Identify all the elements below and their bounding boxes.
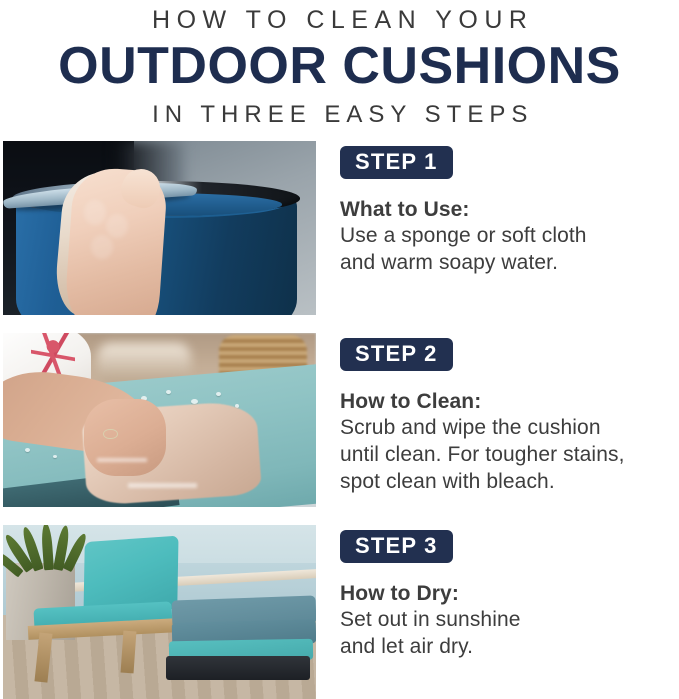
water-droplet [216, 392, 221, 396]
step-row: STEP 3 How to Dry: Set out in sunshine a… [0, 525, 679, 699]
header-line-top: HOW TO CLEAN YOUR [0, 6, 679, 34]
step-3-body: STEP 3 How to Dry: Set out in sunshine a… [340, 525, 679, 660]
hand [84, 399, 165, 476]
step-1-badge: STEP 1 [340, 146, 453, 179]
step-1-heading: What to Use: [340, 197, 679, 222]
page-header: HOW TO CLEAN YOUR OUTDOOR CUSHIONS IN TH… [0, 0, 679, 129]
step-2-badge: STEP 2 [340, 338, 453, 371]
step-2-photo [3, 333, 316, 507]
header-line-bottom: IN THREE EASY STEPS [0, 101, 679, 129]
step-row: STEP 1 What to Use: Use a sponge or soft… [0, 141, 679, 333]
knuckle-highlight [84, 200, 106, 224]
step-3-heading: How to Dry: [340, 581, 679, 606]
step-3-photo [3, 525, 316, 699]
step-3-badge: STEP 3 [340, 530, 453, 563]
water-droplet [25, 448, 30, 452]
steps-list: STEP 1 What to Use: Use a sponge or soft… [0, 141, 679, 699]
step-2-heading: How to Clean: [340, 389, 679, 414]
ring [103, 429, 118, 440]
step-3-line: and let air dry. [340, 633, 679, 660]
knuckle-highlight [91, 235, 113, 259]
step-2-line: spot clean with bleach. [340, 468, 679, 495]
step-1-line: Use a sponge or soft cloth [340, 222, 679, 249]
step-row: STEP 2 How to Clean: Scrub and wipe the … [0, 333, 679, 525]
page-title: OUTDOOR CUSHIONS [0, 35, 679, 97]
step-2-line: until clean. For tougher stains, [340, 441, 679, 468]
step-2-line: Scrub and wipe the cushion [340, 414, 679, 441]
stacked-cushion [166, 656, 310, 680]
motion-streak [128, 483, 197, 488]
water-droplet [53, 455, 57, 458]
step-2-body: STEP 2 How to Clean: Scrub and wipe the … [340, 333, 679, 495]
step-1-body: STEP 1 What to Use: Use a sponge or soft… [340, 141, 679, 276]
step-1-line: and warm soapy water. [340, 249, 679, 276]
step-1-photo [3, 141, 316, 315]
step-3-line: Set out in sunshine [340, 606, 679, 633]
motion-streak [97, 458, 147, 462]
